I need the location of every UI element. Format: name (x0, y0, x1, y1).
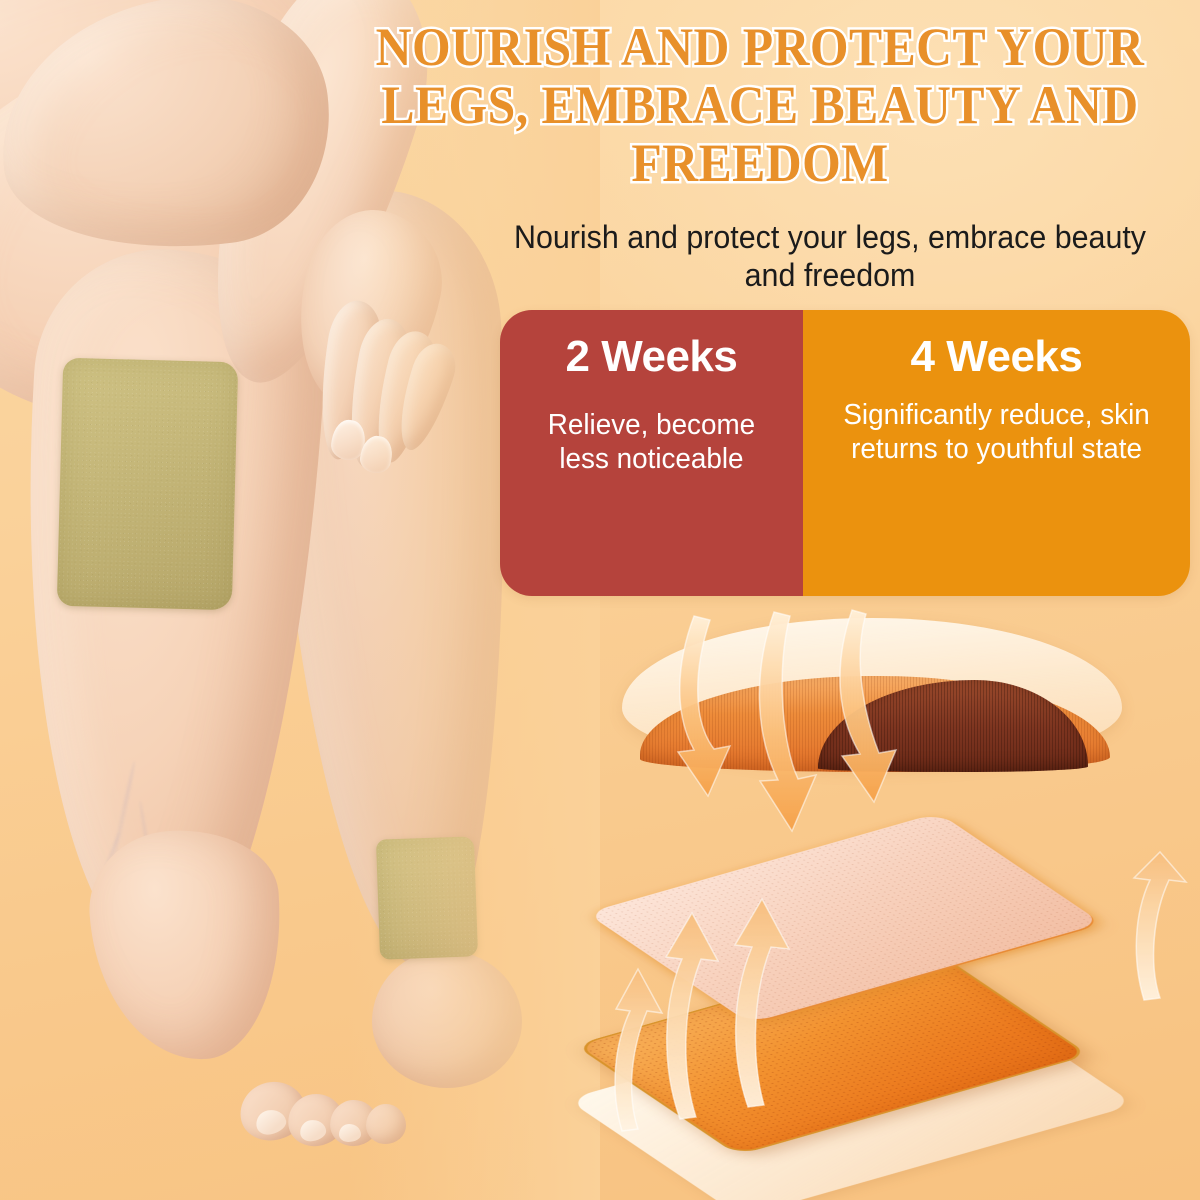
ankle-shape (84, 824, 290, 1067)
results-timeline-card: 2 Weeks Relieve, become less noticeable … (500, 310, 1190, 596)
result-column-2-weeks: 2 Weeks Relieve, become less noticeable (500, 310, 803, 596)
result-column-4-weeks: 4 Weeks Significantly reduce, skin retur… (803, 310, 1190, 596)
toe-shape (366, 1104, 406, 1144)
breathability-arrow-right-icon (1110, 850, 1200, 1010)
herbal-patch-on-ankle (376, 836, 478, 959)
subtitle-text: Nourish and protect your legs, embrace b… (488, 218, 1172, 294)
toenail-shape (339, 1124, 361, 1142)
result-body-2-weeks: Relieve, become less noticeable (523, 408, 779, 476)
rear-heel-shape (372, 950, 522, 1088)
page-title: NOURISH AND PROTECT YOUR LEGS, EMBRACE B… (364, 18, 1155, 192)
breathability-arrows-up-icon (610, 855, 890, 1155)
patch-layers-diagram (600, 600, 1200, 1200)
herbal-patch-on-calf (57, 358, 238, 610)
result-heading-2-weeks: 2 Weeks (566, 332, 738, 382)
result-body-4-weeks: Significantly reduce, skin returns to yo… (828, 398, 1165, 466)
result-heading-4-weeks: 4 Weeks (911, 332, 1083, 382)
product-poster: NOURISH AND PROTECT YOUR LEGS, EMBRACE B… (0, 0, 1200, 1200)
